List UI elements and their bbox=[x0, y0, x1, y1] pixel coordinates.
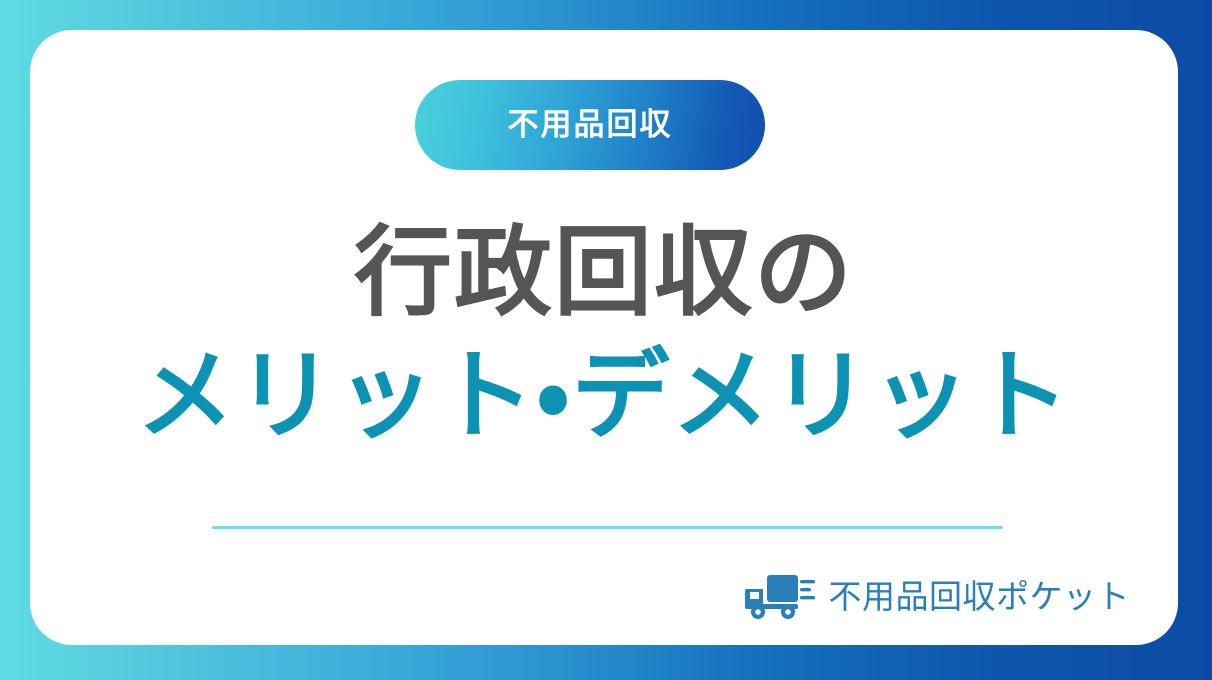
page-title-line-1: 行政回収の bbox=[30, 212, 1178, 335]
page-title-line-2: メリット・デメリット bbox=[30, 335, 1178, 458]
slide-canvas: 不用品回収 行政回収の メリット・デメリット bbox=[0, 0, 1212, 680]
delivery-truck-icon bbox=[743, 571, 817, 621]
category-badge: 不用品回収 bbox=[415, 80, 765, 170]
brand-logo-text: 不用品回収ポケット bbox=[829, 580, 1131, 613]
divider bbox=[212, 526, 1003, 529]
category-badge-label: 不用品回収 bbox=[508, 110, 673, 141]
brand-logo: 不用品回収ポケット bbox=[743, 568, 1131, 624]
page-title: 行政回収の メリット・デメリット bbox=[30, 212, 1178, 457]
content-card: 不用品回収 行政回収の メリット・デメリット bbox=[30, 30, 1178, 645]
